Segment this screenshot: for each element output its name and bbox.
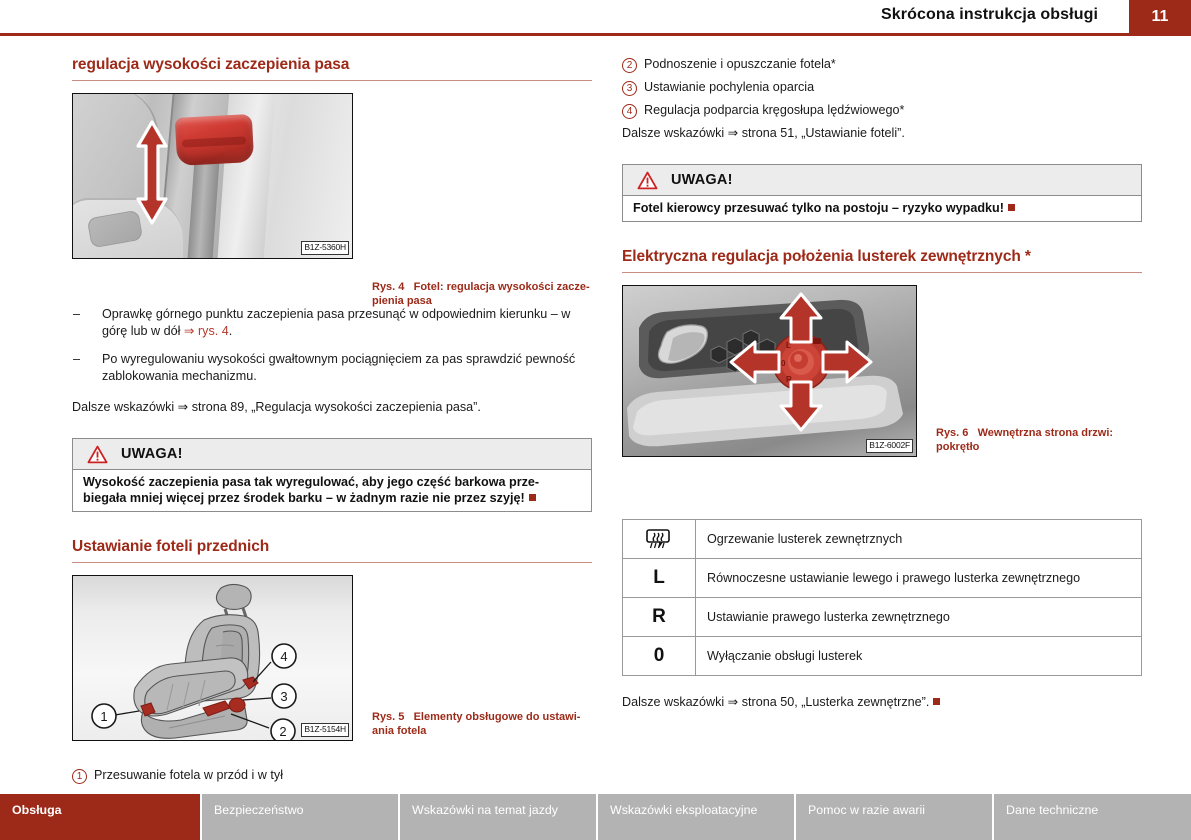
footer-tab-pomoc-awarii[interactable]: Pomoc w razie awarii xyxy=(796,794,994,840)
footer-tab-obsluga[interactable]: Obsługa xyxy=(0,794,202,840)
figure-label: Rys. 4 xyxy=(372,281,404,293)
figure-mirror-knob-caption: Rys. 6 Wewnętrzna strona drzwi: pokrętło xyxy=(936,427,1146,454)
front-seat-illustration: 1 2 3 4 xyxy=(73,576,353,741)
symbol-cell-heating xyxy=(623,520,696,559)
warning-box-driver-seat: UWAGA! Fotel kierowcy przesuwać tylko na… xyxy=(622,164,1142,222)
callout-text: Regulacja podparcia kręgosłupa lędźwiowe… xyxy=(644,102,904,119)
header-divider xyxy=(0,33,1191,36)
mirror-heating-icon xyxy=(646,528,672,550)
dash-marker: – xyxy=(73,306,80,323)
callout-item-2: 2 Podnoszenie i opuszczanie fotela* xyxy=(622,56,1142,73)
callout-number: 1 xyxy=(72,769,87,784)
table-cell-description: Ustawianie prawego lusterka zewnętrznego xyxy=(696,598,1142,637)
section-title-belt-height: regulacja wysokości zaczepienia pasa xyxy=(72,56,592,81)
warning-title: UWAGA! xyxy=(121,446,183,462)
warning-title: UWAGA! xyxy=(671,172,733,188)
callout-number: 3 xyxy=(622,81,637,96)
figure-caption-line1: Fotel: regulacja wysokości zacze- xyxy=(414,281,590,293)
page-number: 11 xyxy=(1129,0,1191,36)
figure-seat-controls: 1 2 3 4 B1Z-5154H Rys. 5 Elementy obsług… xyxy=(72,575,592,741)
section-title-electric-mirrors: Elektryczna regulacja położenia lusterek… xyxy=(622,248,1142,273)
section-title-front-seats: Ustawianie foteli przednich xyxy=(72,538,592,563)
table-row: Ogrzewanie lusterek zewnętrznych xyxy=(623,520,1142,559)
table-row: 0 Wyłączanie obsługi lusterek xyxy=(623,637,1142,676)
end-mark-icon xyxy=(529,494,536,501)
warning-text: Wysokość zaczepienia pasa tak wyregulowa… xyxy=(83,475,539,505)
list-item-text: Po wyregulowaniu wysokości gwałtownym po… xyxy=(102,352,575,383)
figure-mirror-knob: L 0 R B1Z-6002F Rys. 6 Wewnętrzna strona… xyxy=(622,285,1142,457)
svg-text:0: 0 xyxy=(781,359,786,368)
right-column: 2 Podnoszenie i opuszczanie fotela* 3 Us… xyxy=(622,56,1142,711)
door-inner-panel-illustration: L 0 R xyxy=(623,286,917,457)
final-note-text: Dalsze wskazówki ⇒ strona 50, „Lusterka … xyxy=(622,695,929,709)
figure-caption-line2: pokrętło xyxy=(936,441,979,453)
warning-triangle-icon xyxy=(637,171,658,190)
belt-height-adjuster-knob xyxy=(175,114,254,166)
further-info-note-belt: Dalsze wskazówki ⇒ strona 89, „Regulacja… xyxy=(72,399,592,416)
svg-text:4: 4 xyxy=(280,649,287,664)
table-row: R Ustawianie prawego lusterka zewnętrzne… xyxy=(623,598,1142,637)
final-info-note-mirrors: Dalsze wskazówki ⇒ strona 50, „Lusterka … xyxy=(622,694,1142,711)
symbol-cell-left: L xyxy=(623,559,696,598)
callout-number: 2 xyxy=(622,58,637,73)
footer-tab-bezpieczenstwo[interactable]: Bezpieczeństwo xyxy=(202,794,400,840)
figure-mirror-knob-image: L 0 R B1Z-6002F xyxy=(622,285,917,457)
svg-text:2: 2 xyxy=(279,724,286,739)
figure-caption-line1: Wewnętrzna strona drzwi: xyxy=(978,427,1113,439)
symbol-cell-off: 0 xyxy=(623,637,696,676)
figure-label: Rys. 6 xyxy=(936,427,968,439)
figure-seat-controls-caption: Rys. 5 Elementy obsługowe do ustawi- ani… xyxy=(372,711,592,738)
end-mark-icon xyxy=(933,698,940,705)
svg-text:3: 3 xyxy=(280,689,287,704)
figure-caption-line2: pienia pasa xyxy=(372,295,432,307)
callout-item-4: 4 Regulacja podparcia kręgosłupa lędźwio… xyxy=(622,102,1142,119)
callout-item-1: 1 Przesuwanie fotela w przód i w tył xyxy=(72,767,592,784)
list-item-text: Oprawkę górnego punktu zaczepienia pasa … xyxy=(102,307,570,338)
callout-text: Podnoszenie i opuszczanie fotela* xyxy=(644,56,836,73)
table-cell-description: Wyłączanie obsługi lusterek xyxy=(696,637,1142,676)
warning-body: Wysokość zaczepienia pasa tak wyregulowa… xyxy=(73,470,591,511)
warning-header: UWAGA! xyxy=(623,165,1141,196)
figure-belt-height-caption: Rys. 4 Fotel: regulacja wysokości zacze-… xyxy=(372,281,592,308)
figure-caption-line1: Elementy obsługowe do ustawi- xyxy=(414,711,581,723)
warning-header: UWAGA! xyxy=(73,439,591,470)
callout-text: Ustawianie pochylenia oparcia xyxy=(644,79,814,96)
table-cell-description: Równoczesne ustawianie lewego i prawego … xyxy=(696,559,1142,598)
mirror-symbols-table: Ogrzewanie lusterek zewnętrznych L Równo… xyxy=(622,519,1142,676)
footer-tab-dane-techniczne[interactable]: Dane techniczne xyxy=(994,794,1191,840)
callout-text: Przesuwanie fotela w przód i w tył xyxy=(94,767,283,784)
figure-code: B1Z-6002F xyxy=(866,439,913,453)
end-mark-icon xyxy=(1008,204,1015,211)
figure-seat-controls-image: 1 2 3 4 B1Z-5154H xyxy=(72,575,353,741)
cross-reference-link[interactable]: ⇒ rys. 4 xyxy=(184,324,229,338)
left-column: regulacja wysokości zaczepienia pasa B1Z… xyxy=(72,56,592,790)
warning-text: Fotel kierowcy przesuwać tylko na postoj… xyxy=(633,201,1004,215)
symbol-cell-right: R xyxy=(623,598,696,637)
belt-height-instruction-list: –Oprawkę górnego punktu zaczepienia pasa… xyxy=(72,306,592,385)
figure-code: B1Z-5360H xyxy=(301,241,349,255)
footer-navigation: Obsługa Bezpieczeństwo Wskazówki na tema… xyxy=(0,794,1191,840)
up-down-arrow-icon xyxy=(133,120,171,225)
footer-tab-wskazowki-jazdy[interactable]: Wskazówki na temat jazdy xyxy=(400,794,598,840)
figure-code: B1Z-5154H xyxy=(301,723,349,737)
figure-caption-line2: ania fotela xyxy=(372,725,426,737)
callout-number: 4 xyxy=(622,104,637,119)
list-item: –Oprawkę górnego punktu zaczepienia pasa… xyxy=(72,306,592,340)
figure-belt-height-image: B1Z-5360H xyxy=(72,93,353,259)
figure-belt-height: B1Z-5360H Rys. 4 Fotel: regulacja wysoko… xyxy=(72,93,592,259)
table-row: L Równoczesne ustawianie lewego i praweg… xyxy=(623,559,1142,598)
table-cell-description: Ogrzewanie lusterek zewnętrznych xyxy=(696,520,1142,559)
warning-body: Fotel kierowcy przesuwać tylko na postoj… xyxy=(623,196,1141,221)
further-info-note-seats: Dalsze wskazówki ⇒ strona 51, „Ustawiani… xyxy=(622,125,1142,142)
figure-label: Rys. 5 xyxy=(372,711,404,723)
page-header: Skrócona instrukcja obsługi 11 xyxy=(0,0,1191,36)
callout-item-3: 3 Ustawianie pochylenia oparcia xyxy=(622,79,1142,96)
warning-triangle-icon xyxy=(87,445,108,464)
list-item: –Po wyregulowaniu wysokości gwałtownym p… xyxy=(72,351,592,385)
warning-box-belt: UWAGA! Wysokość zaczepienia pasa tak wyr… xyxy=(72,438,592,512)
page-title: Skrócona instrukcja obsługi xyxy=(881,6,1098,24)
svg-text:1: 1 xyxy=(100,709,107,724)
footer-tab-wskazowki-eksploatacyjne[interactable]: Wskazówki eksploatacyjne xyxy=(598,794,796,840)
dash-marker: – xyxy=(73,351,80,368)
list-item-tail: . xyxy=(229,324,233,338)
